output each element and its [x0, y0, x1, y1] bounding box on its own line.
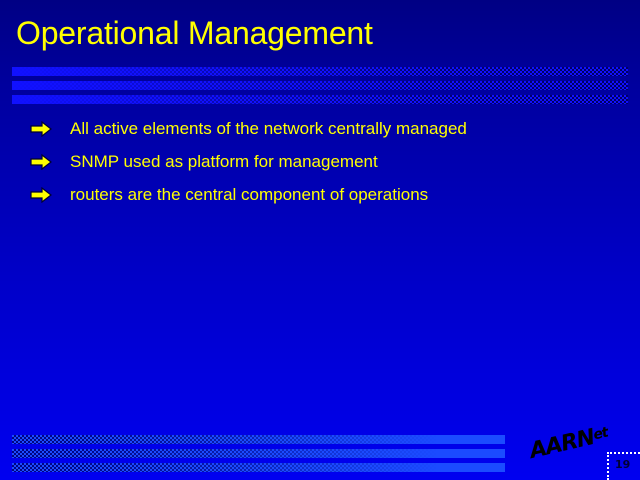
page-title: Operational Management	[16, 14, 373, 52]
top-bar-1	[12, 67, 628, 76]
list-item-label: SNMP used as platform for management	[70, 151, 610, 173]
top-bar-3	[12, 95, 628, 104]
list-item-label: routers are the central component of ope…	[70, 184, 610, 206]
list-item-label: All active elements of the network centr…	[70, 118, 610, 140]
list-item: SNMP used as platform for management	[30, 151, 610, 184]
page-number-box: 19	[607, 452, 640, 480]
arrow-right-outline-icon	[30, 184, 70, 203]
aarnet-logo-suffix: et	[592, 425, 609, 444]
bottom-bar-3	[12, 463, 505, 472]
top-bar-2	[12, 81, 628, 90]
bottom-bar-2	[12, 449, 505, 458]
list-item: All active elements of the network centr…	[30, 118, 610, 151]
slide-canvas: Operational Management All active elemen…	[0, 0, 640, 480]
arrow-right-outline-icon	[30, 151, 70, 170]
aarnet-logo-main: AARN	[527, 425, 596, 464]
list-item: routers are the central component of ope…	[30, 184, 610, 217]
page-number: 19	[615, 458, 630, 471]
bottom-bar-1	[12, 435, 505, 444]
arrow-right-outline-icon	[30, 118, 70, 137]
bullet-list: All active elements of the network centr…	[30, 118, 610, 217]
aarnet-logo-text: AARNet	[527, 422, 610, 464]
